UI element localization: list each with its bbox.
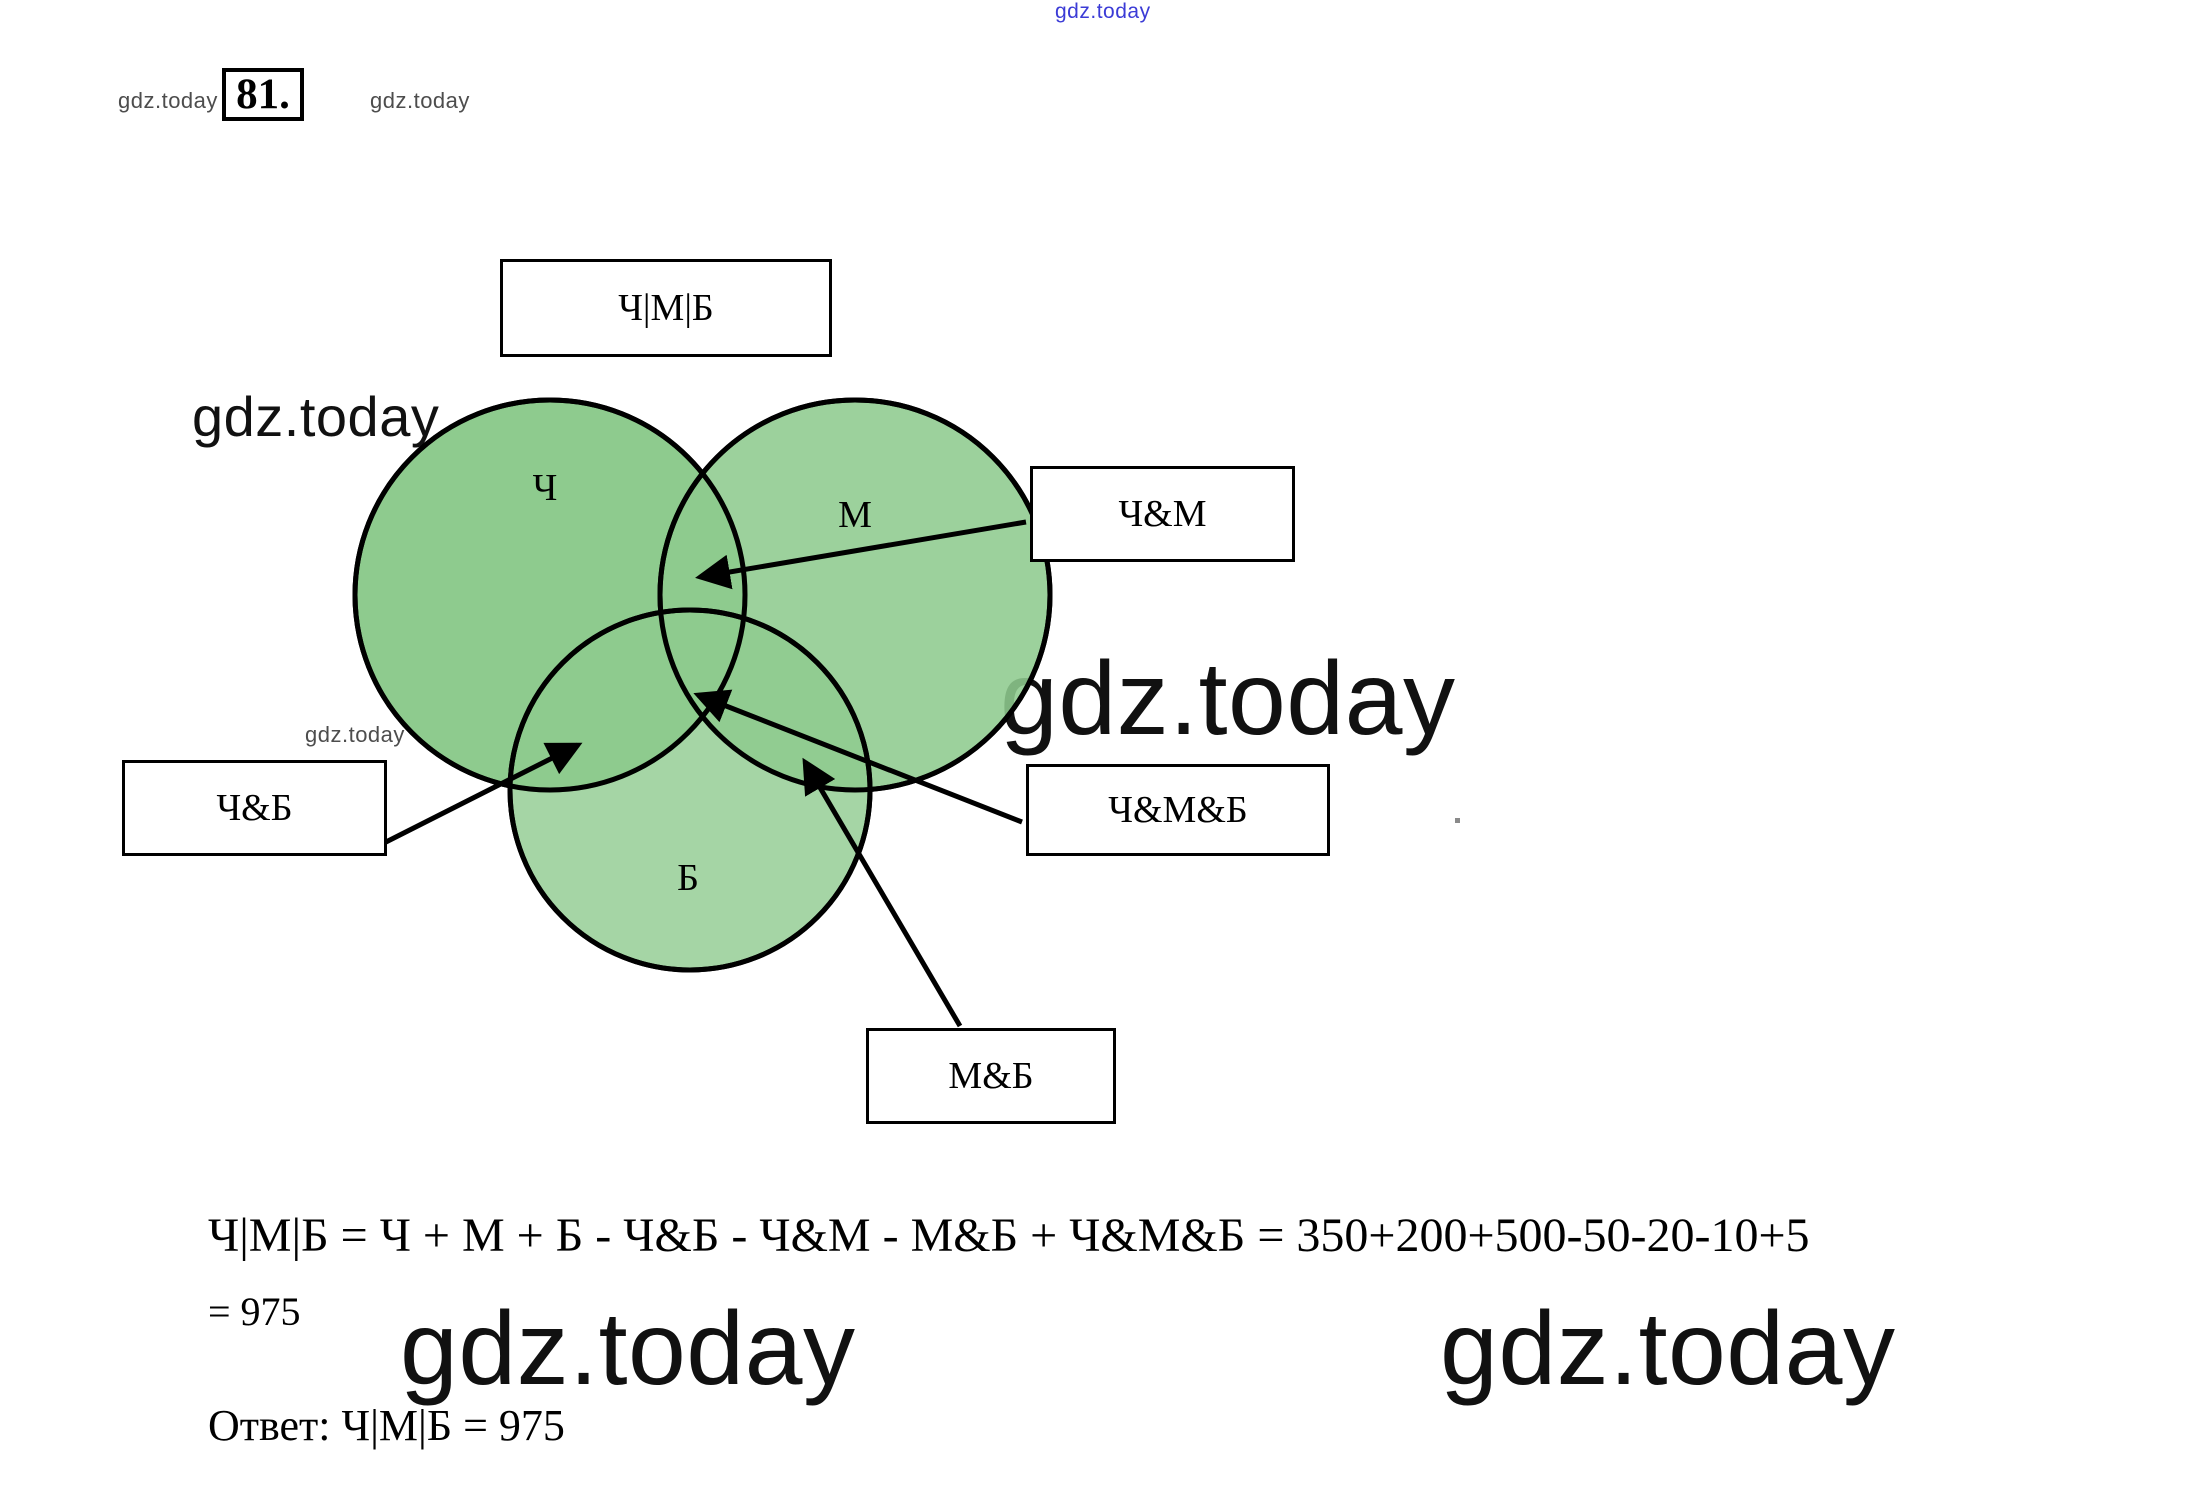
venn-circle-b bbox=[510, 610, 870, 970]
label-m-and-b-text: М&Б bbox=[948, 1054, 1033, 1098]
venn-circle-m bbox=[660, 400, 1050, 790]
venn-circle-ch bbox=[355, 400, 745, 790]
diagram-canvas: gdz.today gdz.today gdz.today gdz.today … bbox=[0, 0, 2190, 1496]
arrow-ch-m bbox=[700, 522, 1026, 577]
watermark-bottom-left: gdz.today bbox=[400, 1290, 856, 1409]
label-box-m-and-b[interactable]: М&Б bbox=[866, 1028, 1116, 1124]
watermark-small-right: gdz.today bbox=[370, 88, 470, 114]
watermark-small-left: gdz.today bbox=[118, 88, 218, 114]
venn-outline-m bbox=[660, 400, 1050, 790]
arrow-m-b bbox=[805, 762, 960, 1026]
venn-label-ch: Ч bbox=[533, 467, 558, 509]
venn-label-b: Б bbox=[677, 857, 699, 899]
label-box-ch-and-m[interactable]: Ч&М bbox=[1030, 466, 1295, 562]
label-box-ch-and-b[interactable]: Ч&Б bbox=[122, 760, 387, 856]
task-number-badge: 81. bbox=[222, 68, 304, 121]
watermark-small-mid: gdz.today bbox=[305, 722, 405, 748]
watermark-upper-left: gdz.today bbox=[192, 384, 439, 449]
venn-label-m: М bbox=[838, 494, 872, 536]
venn-outline-b bbox=[510, 610, 870, 970]
watermark-dot bbox=[1455, 818, 1460, 823]
formula-line-1: Ч|М|Б = Ч + М + Б - Ч&Б - Ч&М - М&Б + Ч&… bbox=[208, 1208, 1810, 1263]
label-box-ch-and-m-and-b[interactable]: Ч&М&Б bbox=[1026, 764, 1330, 856]
label-ch-and-m-and-b-text: Ч&М&Б bbox=[1108, 788, 1247, 832]
label-box-union-all[interactable]: Ч|М|Б bbox=[500, 259, 832, 357]
label-ch-and-b-text: Ч&Б bbox=[216, 786, 292, 830]
watermark-top-blue: gdz.today bbox=[1055, 0, 1151, 24]
label-ch-and-m-text: Ч&М bbox=[1118, 492, 1206, 536]
formula-line-2: = 975 bbox=[208, 1288, 301, 1335]
watermark-bottom-right: gdz.today bbox=[1440, 1290, 1896, 1409]
answer-line: Ответ: Ч|М|Б = 975 bbox=[208, 1400, 565, 1451]
watermark-center: gdz.today bbox=[1000, 640, 1456, 759]
arrow-ch-b bbox=[384, 745, 578, 843]
task-number-text: 81. bbox=[236, 73, 290, 116]
venn-outline-ch bbox=[355, 400, 745, 790]
label-union-all-text: Ч|М|Б bbox=[618, 286, 714, 330]
arrow-ch-m-b bbox=[698, 695, 1022, 822]
